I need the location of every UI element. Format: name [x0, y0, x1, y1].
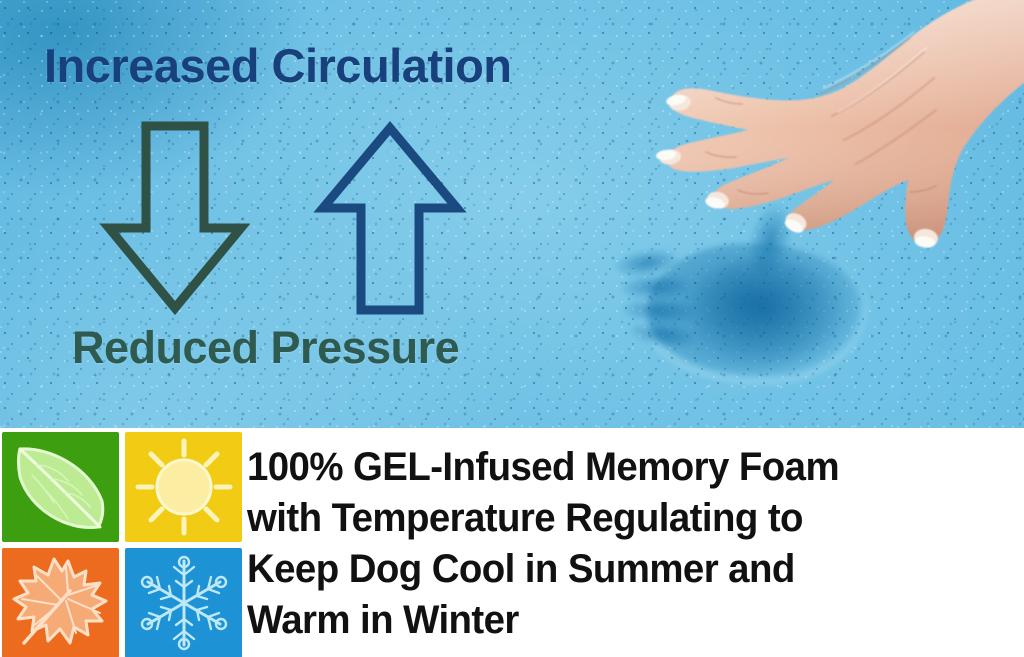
arrow-up-icon [312, 118, 467, 318]
season-tile-winter [125, 548, 242, 657]
season-icon-grid [2, 432, 242, 654]
snowflake-icon [129, 551, 239, 655]
reduced-pressure-label: Reduced Pressure [72, 322, 459, 374]
arrow-down-icon [100, 118, 250, 318]
increased-circulation-label: Increased Circulation [44, 38, 512, 93]
sun-icon [129, 435, 239, 539]
season-tile-autumn [2, 548, 119, 657]
foam-photo-panel: Increased Circulation Reduced Pressure [0, 0, 1024, 428]
info-panel: 100% GEL-Infused Memory Foam with Temper… [0, 428, 1024, 657]
maple-leaf-icon [6, 551, 116, 655]
description-line: with Temperature Regulating to [247, 493, 986, 544]
season-tile-summer [125, 432, 242, 542]
description-line: 100% GEL-Infused Memory Foam [247, 442, 986, 493]
product-description: 100% GEL-Infused Memory Foam with Temper… [247, 442, 986, 646]
hand-photo [588, 0, 1024, 306]
description-line: Warm in Winter [247, 595, 986, 646]
description-line: Keep Dog Cool in Summer and [247, 544, 986, 595]
product-infographic: Increased Circulation Reduced Pressure [0, 0, 1024, 657]
leaf-icon [6, 435, 116, 539]
season-tile-spring [2, 432, 119, 542]
hand-shape [656, 0, 1024, 249]
